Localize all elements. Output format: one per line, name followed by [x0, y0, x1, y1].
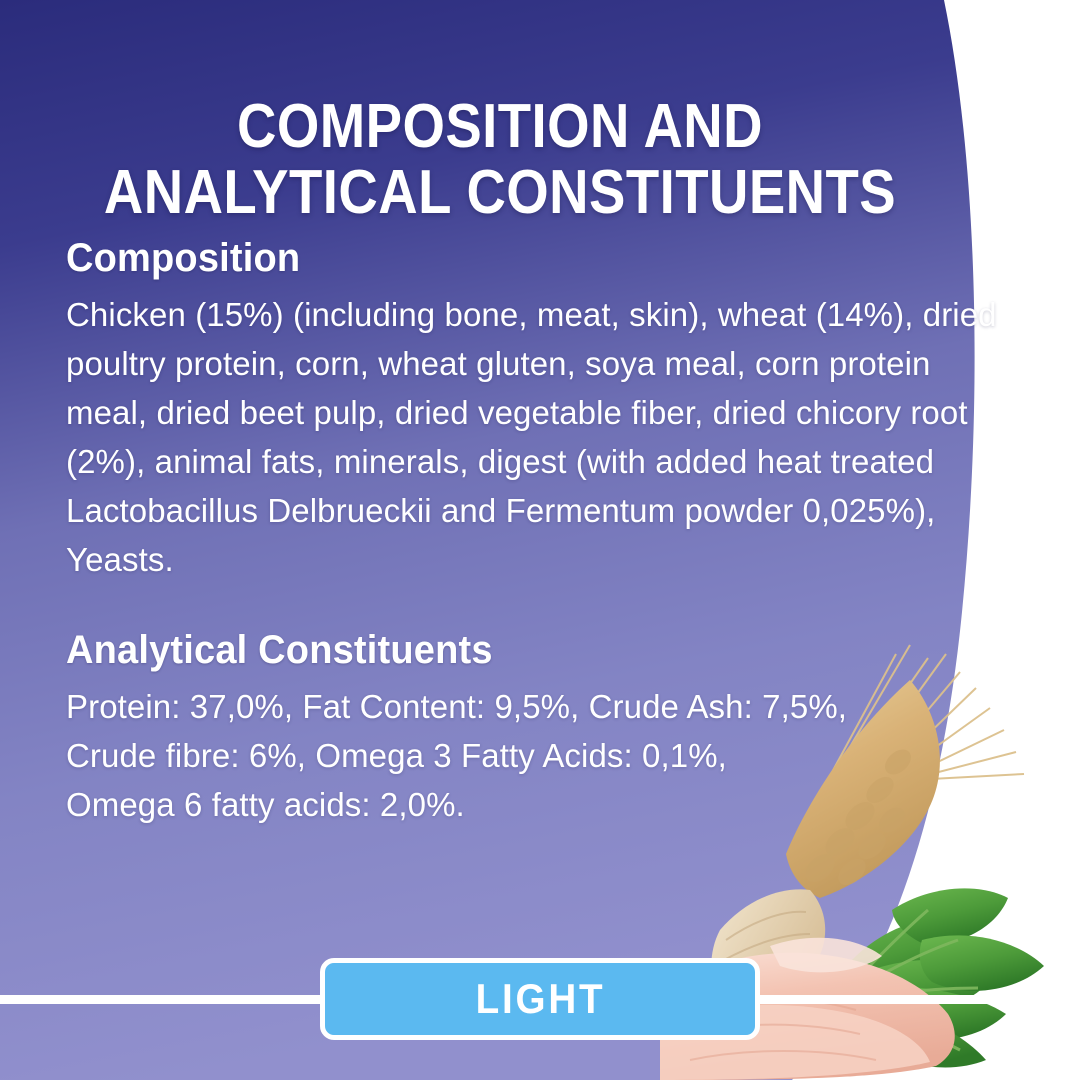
- composition-text: Chicken (15%) (including bone, meat, ski…: [66, 290, 996, 584]
- composition-line: Yeasts.: [66, 535, 996, 584]
- analytical-heading: Analytical Constituents: [66, 628, 883, 672]
- composition-section: Composition Chicken (15%) (including bon…: [66, 236, 996, 584]
- composition-heading: Composition: [66, 236, 950, 280]
- variant-badge-light[interactable]: LIGHT: [320, 958, 760, 1040]
- divider-rule-right: [750, 995, 1080, 1004]
- title-line-2: ANALYTICAL CONSTITUENTS: [60, 160, 940, 227]
- analytical-constituents-section: Analytical Constituents Protein: 37,0%, …: [66, 628, 926, 829]
- analytical-line: Omega 6 fatty acids: 2,0%.: [66, 780, 926, 829]
- composition-line: (2%), animal fats, minerals, digest (wit…: [66, 437, 996, 486]
- variant-badge-label: LIGHT: [475, 975, 605, 1023]
- composition-line: poultry protein, corn, wheat gluten, soy…: [66, 339, 996, 388]
- composition-line: Lactobacillus Delbrueckii and Fermentum …: [66, 486, 996, 535]
- product-info-card: COMPOSITION AND ANALYTICAL CONSTITUENTS …: [0, 0, 1080, 1080]
- analytical-line: Protein: 37,0%, Fat Content: 9,5%, Crude…: [66, 682, 926, 731]
- composition-line: meal, dried beet pulp, dried vegetable f…: [66, 388, 996, 437]
- analytical-line: Crude fibre: 6%, Omega 3 Fatty Acids: 0,…: [66, 731, 926, 780]
- composition-line: Chicken (15%) (including bone, meat, ski…: [66, 290, 996, 339]
- page-title: COMPOSITION AND ANALYTICAL CONSTITUENTS: [60, 94, 940, 228]
- title-line-1: COMPOSITION AND: [60, 94, 940, 161]
- analytical-text: Protein: 37,0%, Fat Content: 9,5%, Crude…: [66, 682, 926, 829]
- divider-rule-left: [0, 995, 330, 1004]
